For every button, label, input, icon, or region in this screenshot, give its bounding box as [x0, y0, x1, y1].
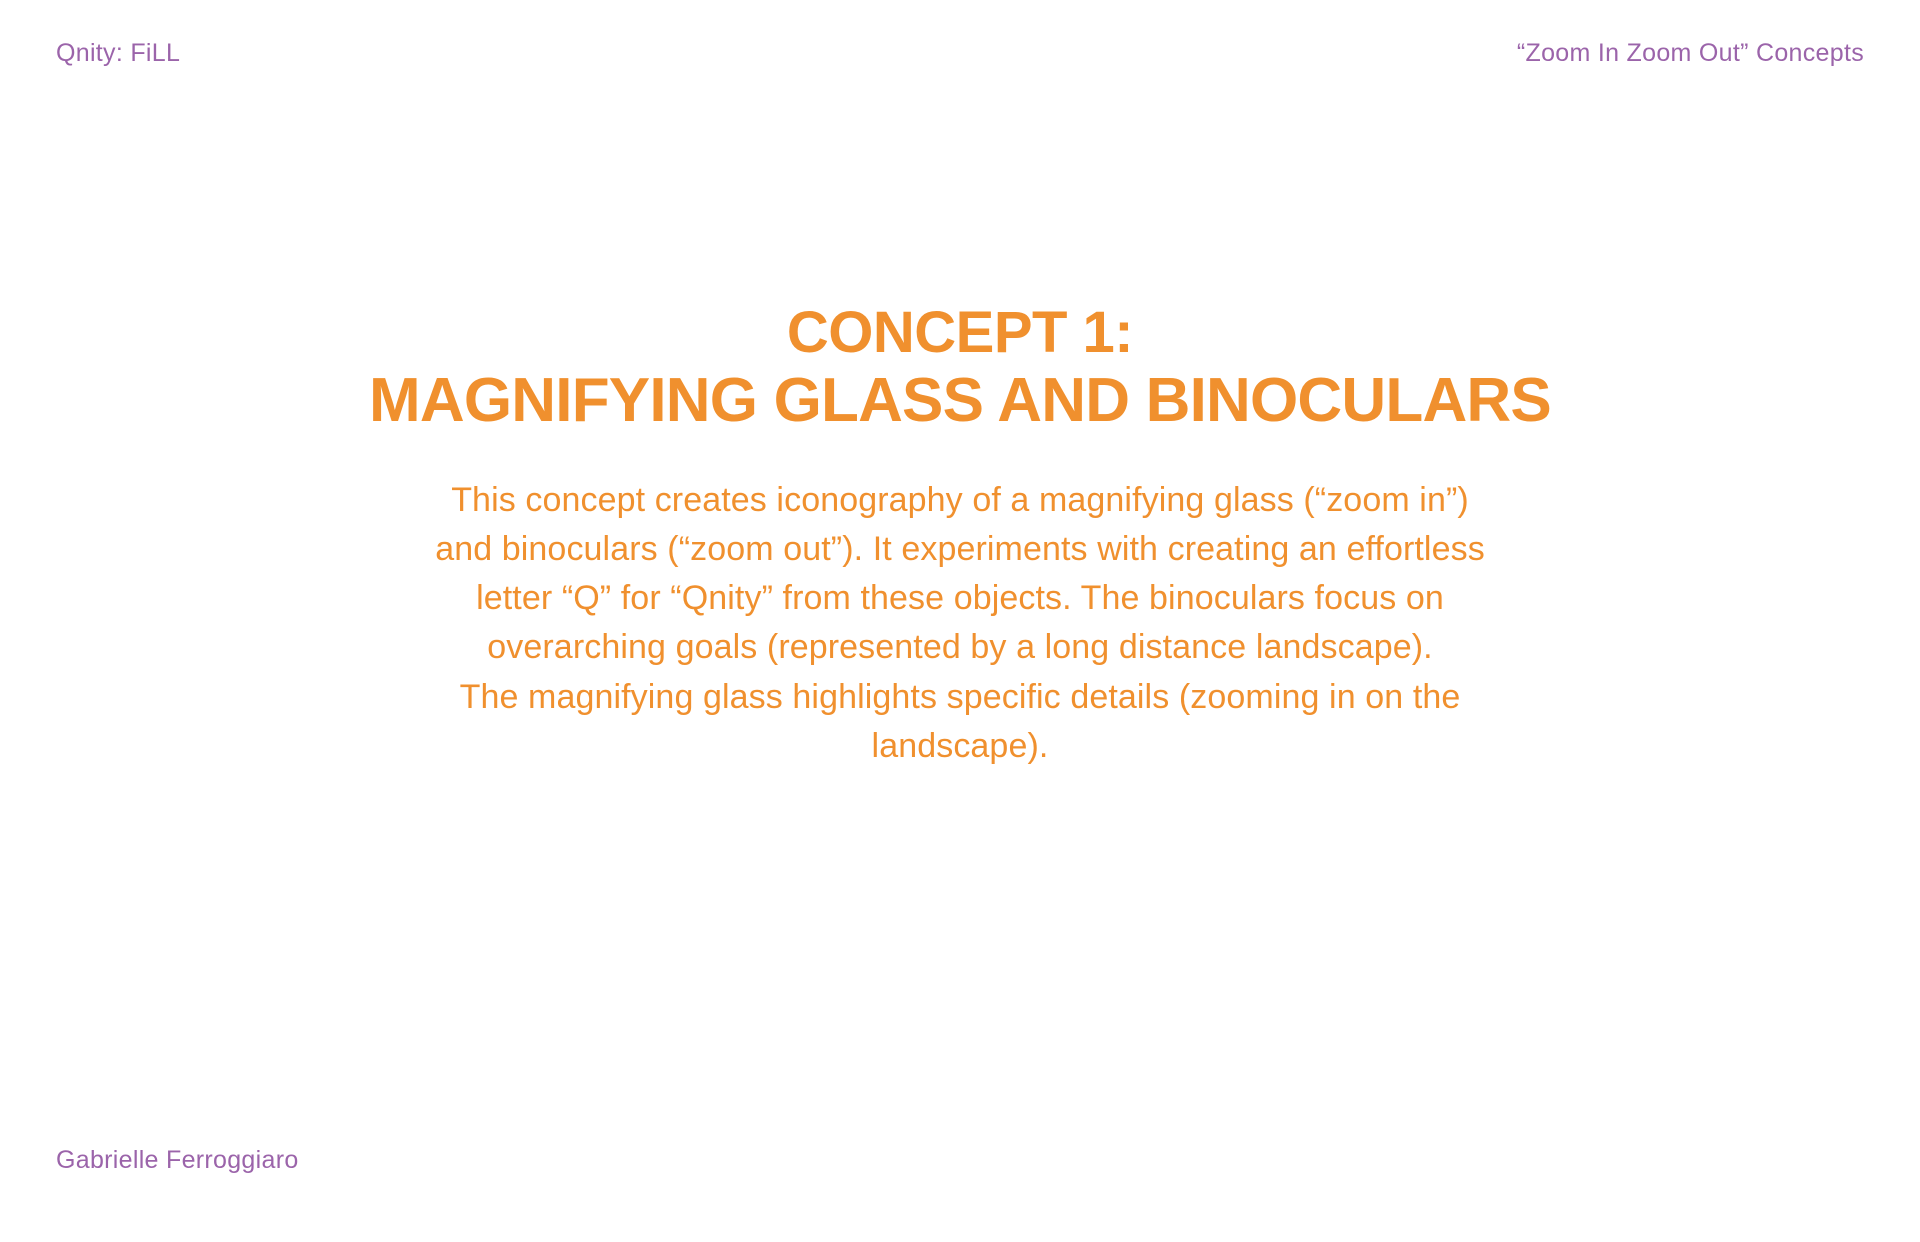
- header-section-label: “Zoom In Zoom Out” Concepts: [1517, 40, 1864, 68]
- description-line: letter “Q” for “Qnity” from these object…: [403, 574, 1518, 623]
- description-line: landscape).: [403, 722, 1518, 771]
- slide-footer: Gabrielle Ferroggiaro: [56, 1147, 299, 1175]
- footer-author-name: Gabrielle Ferroggiaro: [56, 1147, 299, 1175]
- concept-description: This concept creates iconography of a ma…: [403, 476, 1518, 772]
- slide-main-content: CONCEPT 1: MAGNIFYING GLASS AND BINOCULA…: [260, 300, 1660, 771]
- description-line: The magnifying glass highlights specific…: [403, 673, 1518, 722]
- page-title-line-1: CONCEPT 1:: [260, 300, 1660, 366]
- description-line: and binoculars (“zoom out”). It experime…: [403, 525, 1518, 574]
- description-line: overarching goals (represented by a long…: [403, 623, 1518, 672]
- description-line: This concept creates iconography of a ma…: [403, 476, 1518, 525]
- presentation-slide: Qnity: FiLL “Zoom In Zoom Out” Concepts …: [0, 0, 1920, 1242]
- slide-header: Qnity: FiLL “Zoom In Zoom Out” Concepts: [0, 40, 1920, 86]
- page-title-line-2: MAGNIFYING GLASS AND BINOCULARS: [260, 366, 1660, 436]
- page-title: CONCEPT 1: MAGNIFYING GLASS AND BINOCULA…: [260, 300, 1660, 436]
- header-project-label: Qnity: FiLL: [56, 40, 180, 68]
